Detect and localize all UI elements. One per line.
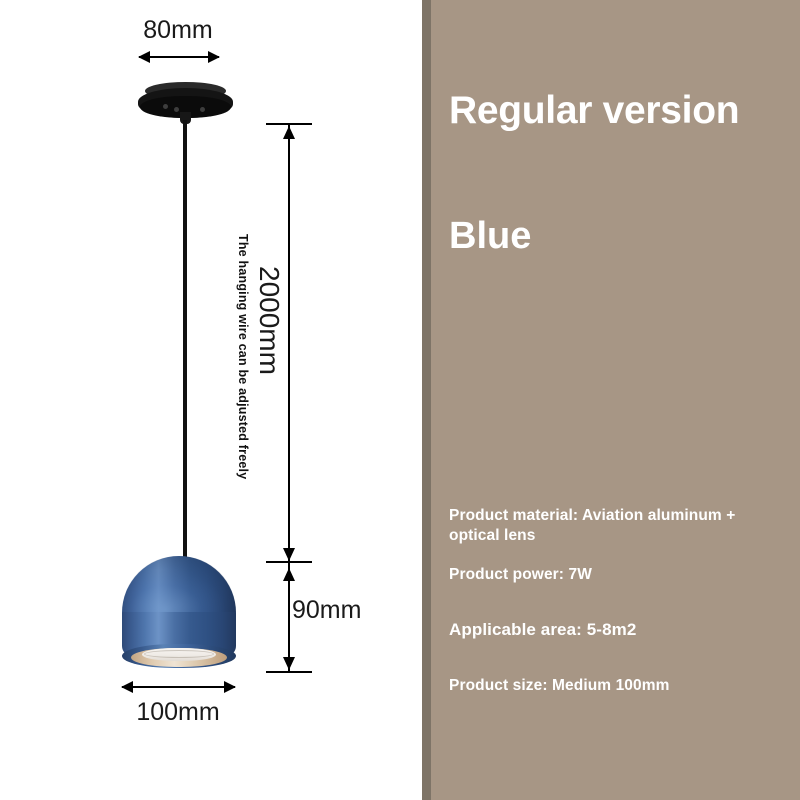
dimension-arrow-shade-width [122,686,235,688]
spec-material: Product material: Aviation aluminum + op… [449,506,785,547]
dimension-arrowhead-down [283,657,295,670]
product-spec-image: 80mm 2000m [0,0,800,800]
hanging-wire [183,120,187,560]
ceiling-canopy [138,82,233,124]
spec-applicable-area: Applicable area: 5-8m2 [449,619,785,641]
canopy-screw-icon [200,107,205,112]
dimension-arrowhead-down [283,548,295,561]
dimension-arrowhead-up [283,126,295,139]
spec-size: Product size: Medium 100mm [449,676,785,696]
product-diagram: 80mm 2000m [0,0,422,800]
spec-power: Product power: 7W [449,565,785,585]
dimension-label-shade-width: 100mm [108,700,248,725]
dimension-arrow-canopy-width [139,56,219,58]
product-spec-list: Product material: Aviation aluminum + op… [449,506,785,696]
panel-heading: Regular version [449,88,769,134]
lamp-shade [122,556,236,668]
dimension-label-wire-length: 2000mm [255,266,283,375]
panel-left-edge [422,0,431,800]
dimension-line-vertical [288,124,290,672]
panel-color-variant: Blue [449,214,769,260]
canopy-screw-icon [163,104,168,109]
shade-highlight [122,556,236,612]
dimension-arrowhead-up [283,568,295,581]
lens-edge [144,650,214,658]
canopy-screw-icon [174,107,179,112]
product-info-panel: Regular version Blue Product material: A… [422,0,800,800]
wire-adjustment-note: The hanging wire can be adjusted freely [237,234,250,479]
dimension-label-shade-height: 90mm [292,598,361,623]
dimension-label-canopy-width: 80mm [108,18,248,43]
